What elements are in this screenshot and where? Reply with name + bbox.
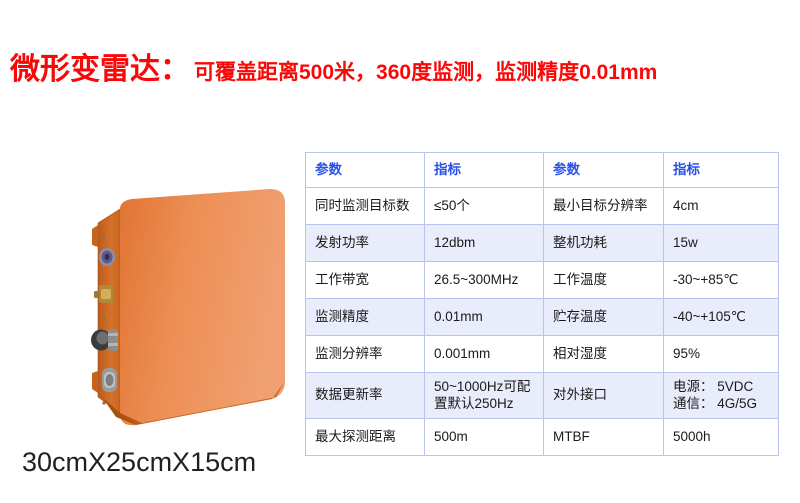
table-cell-value: 500m	[425, 418, 544, 455]
product-dimension-label: 30cmX25cmX15cm	[22, 447, 256, 478]
product-figure	[80, 185, 310, 445]
table-cell-param: 监测分辨率	[306, 336, 425, 373]
table-row: 发射功率12dbm整机功耗15w	[306, 225, 779, 262]
column-header-param-2: 参数	[544, 153, 664, 188]
table-cell-param: 最小目标分辨率	[544, 188, 664, 225]
table-row: 监测精度0.01mm贮存温度-40~+105℃	[306, 299, 779, 336]
spec-table-container: 参数 指标 参数 指标 同时监测目标数≤50个最小目标分辨率4cm发射功率12d…	[305, 152, 778, 456]
table-cell-value: 5000h	[664, 418, 779, 455]
table-cell-value: 15w	[664, 225, 779, 262]
table-cell-value: 电源： 5VDC 通信： 4G/5G	[664, 373, 779, 419]
table-cell-value: 95%	[664, 336, 779, 373]
screw-icon	[102, 235, 105, 238]
table-cell-param: 相对湿度	[544, 336, 664, 373]
screw-icon	[102, 401, 105, 404]
spec-table: 参数 指标 参数 指标 同时监测目标数≤50个最小目标分辨率4cm发射功率12d…	[305, 152, 779, 456]
device-front-face	[120, 189, 285, 425]
table-row: 监测分辨率0.001mm相对湿度95%	[306, 336, 779, 373]
table-row: 工作带宽26.5~300MHz工作温度-30~+85℃	[306, 262, 779, 299]
table-cell-value: 0.01mm	[425, 299, 544, 336]
table-header-row: 参数 指标 参数 指标	[306, 153, 779, 188]
screw-icon	[102, 358, 105, 361]
page-title: 微形变雷达： 可覆盖距离500米，360度监测，监测精度0.01mm	[10, 44, 657, 88]
table-cell-param: 最大探测距离	[306, 418, 425, 455]
table-cell-value: 50~1000Hz可配置默认250Hz	[425, 373, 544, 419]
page-title-main: 微形变雷达：	[10, 44, 190, 88]
table-cell-value: ≤50个	[425, 188, 544, 225]
table-cell-value: -30~+85℃	[664, 262, 779, 299]
brass-connector	[94, 285, 113, 303]
page-title-subtitle: 可覆盖距离500米，360度监测，监测精度0.01mm	[194, 56, 657, 86]
table-cell-param: 整机功耗	[544, 225, 664, 262]
table-cell-param: 发射功率	[306, 225, 425, 262]
table-cell-value: 12dbm	[425, 225, 544, 262]
column-header-value-2: 指标	[664, 153, 779, 188]
silver-connector	[102, 368, 117, 392]
table-cell-param: 监测精度	[306, 299, 425, 336]
table-cell-value: 26.5~300MHz	[425, 262, 544, 299]
table-row: 最大探测距离500mMTBF5000h	[306, 418, 779, 455]
round-knob	[91, 329, 118, 351]
column-header-value-1: 指标	[425, 153, 544, 188]
table-cell-value: 4cm	[664, 188, 779, 225]
table-cell-param: 工作带宽	[306, 262, 425, 299]
table-row: 数据更新率50~1000Hz可配置默认250Hz对外接口电源： 5VDC 通信：…	[306, 373, 779, 419]
coax-connector-blue	[99, 248, 115, 266]
table-row: 同时监测目标数≤50个最小目标分辨率4cm	[306, 188, 779, 225]
table-cell-param: 数据更新率	[306, 373, 425, 419]
table-cell-param: 工作温度	[544, 262, 664, 299]
radar-device-image	[80, 185, 310, 440]
screw-icon	[102, 316, 105, 319]
table-cell-param: 对外接口	[544, 373, 664, 419]
table-cell-param: 同时监测目标数	[306, 188, 425, 225]
table-cell-value: -40~+105℃	[664, 299, 779, 336]
table-cell-param: 贮存温度	[544, 299, 664, 336]
table-cell-value: 0.001mm	[425, 336, 544, 373]
table-cell-param: MTBF	[544, 418, 664, 455]
column-header-param-1: 参数	[306, 153, 425, 188]
